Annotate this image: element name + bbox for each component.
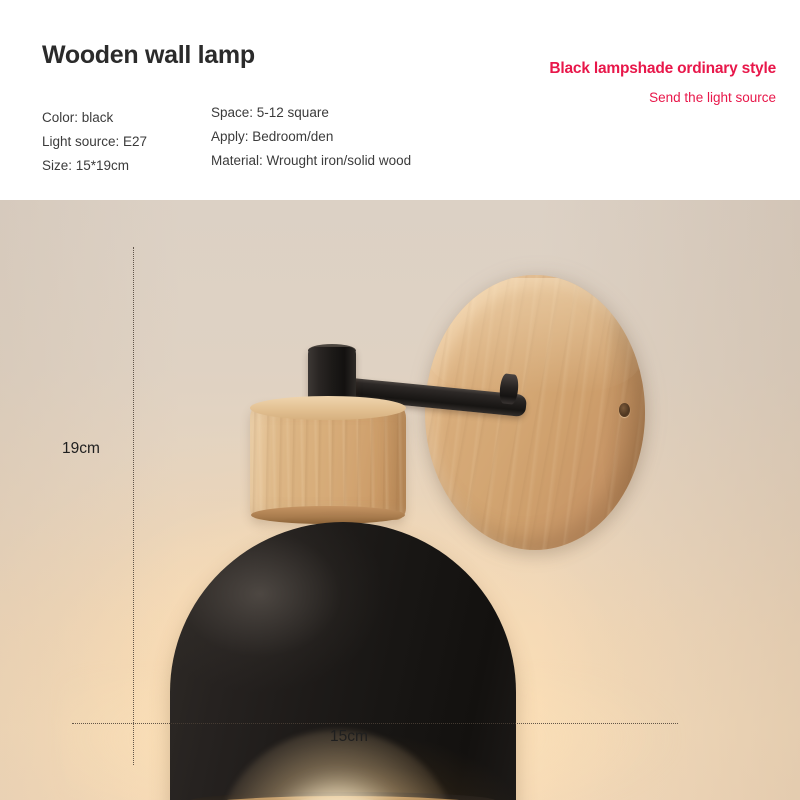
height-guide-line — [133, 247, 134, 765]
collar-top-face — [250, 396, 406, 420]
screw-hole — [619, 403, 630, 417]
product-image-page: Wooden wall lamp Black lampshade ordinar… — [0, 0, 800, 800]
width-guide-line — [72, 723, 678, 724]
height-dimension-label: 19cm — [62, 440, 100, 458]
spec-apply: Apply: Bedroom/den — [211, 125, 411, 149]
spec-list-primary: Color: black Light source: E27 Size: 15*… — [42, 106, 147, 178]
product-photo: 19cm 15cm — [0, 200, 800, 800]
promo-headline: Black lampshade ordinary style — [549, 60, 776, 78]
wooden-backplate — [425, 275, 645, 550]
promo-subline: Send the light source — [649, 90, 776, 105]
spec-list-secondary: Space: 5-12 square Apply: Bedroom/den Ma… — [211, 101, 411, 173]
spec-light-source: Light source: E27 — [42, 130, 147, 154]
spec-color: Color: black — [42, 106, 147, 130]
product-info-header: Wooden wall lamp Black lampshade ordinar… — [0, 0, 800, 200]
width-dimension-label: 15cm — [330, 728, 368, 746]
spec-material: Material: Wrought iron/solid wood — [211, 149, 411, 173]
spec-space: Space: 5-12 square — [211, 101, 411, 125]
spec-size: Size: 15*19cm — [42, 154, 147, 178]
page-title: Wooden wall lamp — [42, 41, 255, 70]
wall-lamp-assembly — [0, 200, 800, 800]
collar-bottom-edge — [251, 506, 405, 524]
